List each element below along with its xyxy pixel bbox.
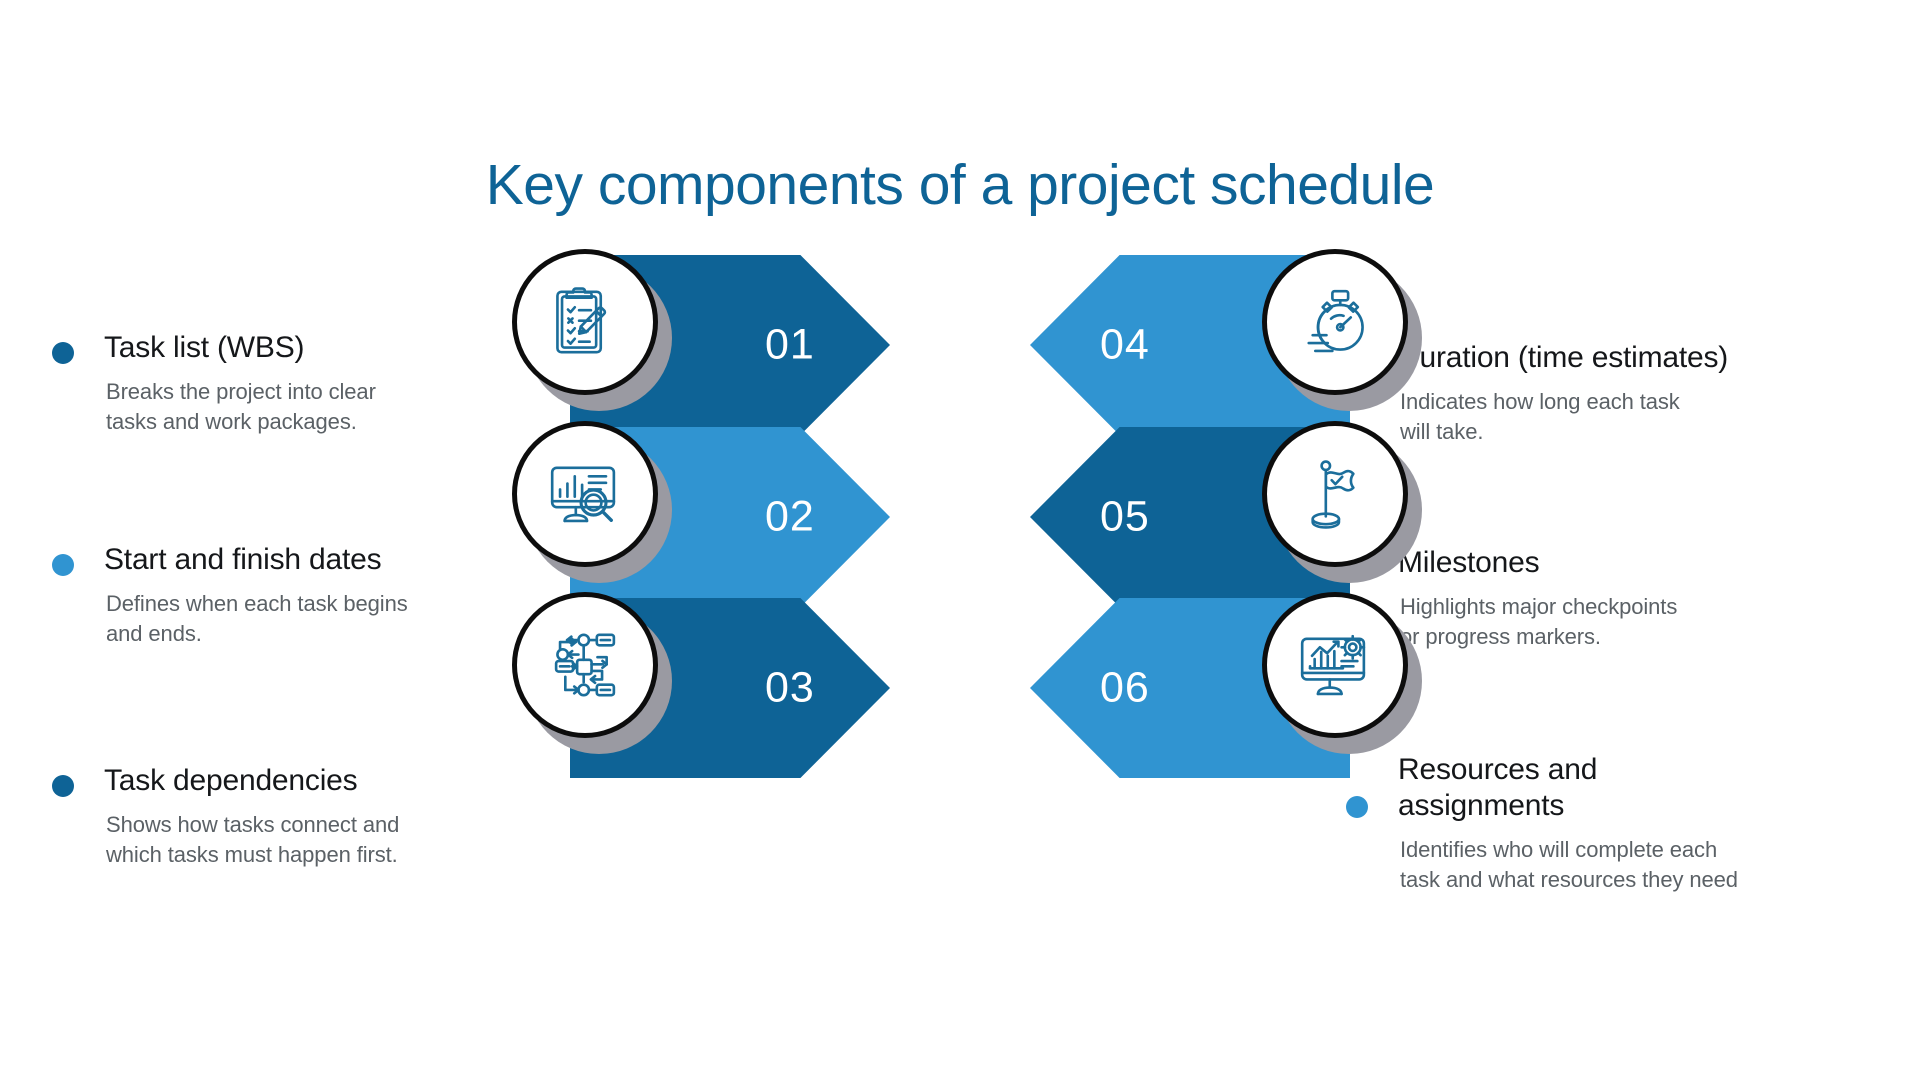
chevron-group-03[interactable]: 03: [570, 598, 890, 778]
chevron-group-01[interactable]: 01: [570, 255, 890, 435]
flowchart-dependencies-icon: [543, 623, 627, 707]
chevron-row-3: 03: [0, 598, 1920, 778]
chevron-group-02[interactable]: 02: [570, 427, 890, 607]
chevron-group-06[interactable]: 06: [1030, 598, 1350, 778]
chevron-number-01: 01: [765, 321, 815, 370]
icon-circle-04[interactable]: [1262, 249, 1408, 395]
chevron-group-05[interactable]: 05: [1030, 427, 1350, 607]
chevron-diagram: 01 04: [0, 0, 1920, 1080]
chevron-number-03: 03: [765, 664, 815, 713]
flag-checkmark-milestone-icon: [1293, 452, 1377, 536]
icon-circle-01[interactable]: [512, 249, 658, 395]
monitor-bar-chart-magnifier-icon: [543, 452, 627, 536]
chevron-group-04[interactable]: 04: [1030, 255, 1350, 435]
icon-circle-02[interactable]: [512, 421, 658, 567]
chevron-row-1: 01 04: [0, 255, 1920, 435]
chevron-number-04: 04: [1100, 321, 1150, 370]
chevron-number-02: 02: [765, 493, 815, 542]
stopwatch-timer-icon: [1293, 280, 1377, 364]
clipboard-checklist-pencil-icon: [543, 280, 627, 364]
chevron-row-2: 02 05: [0, 427, 1920, 607]
chevron-number-06: 06: [1100, 664, 1150, 713]
chevron-number-05: 05: [1100, 493, 1150, 542]
icon-circle-06[interactable]: [1262, 592, 1408, 738]
icon-circle-03[interactable]: [512, 592, 658, 738]
icon-circle-05[interactable]: [1262, 421, 1408, 567]
monitor-chart-gear-icon: [1293, 623, 1377, 707]
